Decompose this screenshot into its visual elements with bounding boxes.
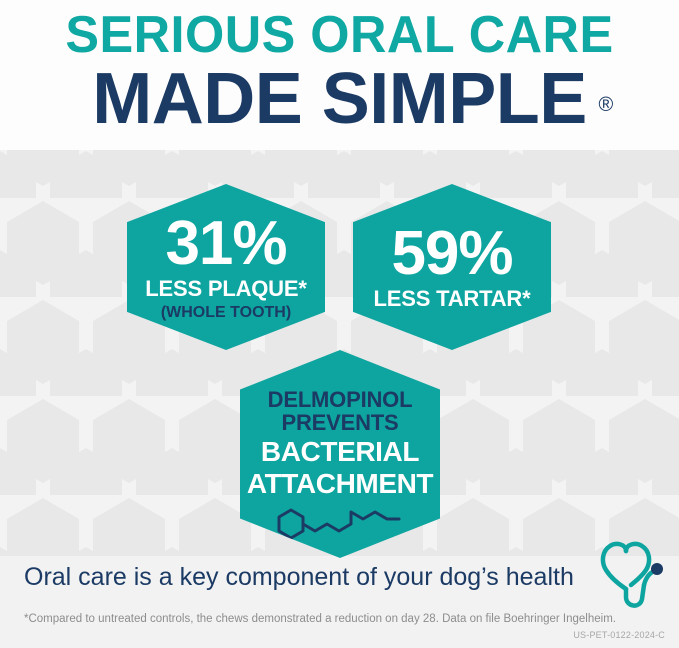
stat-label-plaque: LESS PLAQUE* [145, 277, 306, 301]
stat-sublabel-plaque: (WHOLE TOOTH) [161, 304, 291, 322]
delmopinol-emphasis-line-2: ATTACHMENT [247, 469, 433, 498]
regulatory-code: US-PET-0122-2024-C [573, 630, 665, 641]
footnote-text: *Compared to untreated controls, the che… [24, 612, 616, 626]
page-title: SERIOUS ORAL CARE MADE SIMPLE ® [0, 0, 679, 136]
headline-line-1: SERIOUS ORAL CARE [10, 8, 669, 62]
delmopinol-emphasis-line-1: BACTERIAL [261, 437, 419, 466]
oral-care-infographic: SERIOUS ORAL CARE MADE SIMPLE ® 31% LESS… [0, 0, 679, 648]
delmopinol-heading-line-1: DELMOPINOL [268, 388, 413, 411]
heart-stethoscope-icon [596, 541, 672, 615]
footer-tagline: Oral care is a key component of your dog… [24, 562, 574, 592]
stat-number-tartar: 59% [391, 223, 512, 285]
headline-line-2-text: MADE SIMPLE [92, 59, 587, 139]
delmopinol-heading-line-2: PREVENTS [282, 411, 399, 434]
stat-label-tartar: LESS TARTAR* [374, 287, 531, 311]
stethoscope-chestpiece-dot [651, 563, 663, 575]
registered-trademark-icon: ® [599, 68, 613, 142]
headline-line-2: MADE SIMPLE ® [92, 62, 587, 136]
stat-number-plaque: 31% [165, 213, 286, 275]
stat-badge-delmopinol: DELMOPINOL PREVENTS BACTERIAL ATTACHMENT [240, 350, 440, 558]
